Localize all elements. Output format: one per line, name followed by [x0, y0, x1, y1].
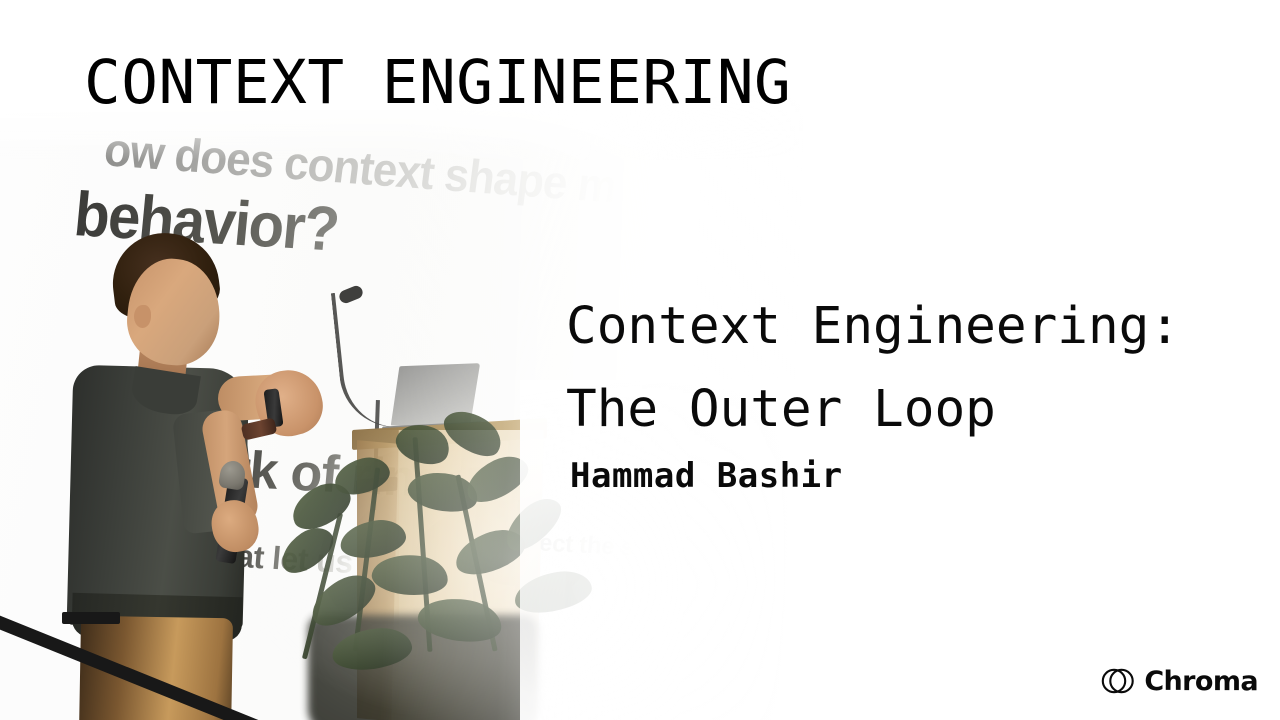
chroma-mark-icon	[1101, 666, 1135, 696]
video-title-card: ow does context shape m behavior? ark of…	[0, 0, 1280, 720]
chroma-logo: Chroma	[1101, 666, 1258, 696]
headline-line-1: Context Engineering:	[566, 286, 1266, 369]
speaker-ear	[134, 305, 151, 328]
stage-railing-cap	[62, 612, 120, 624]
plant-leaf	[331, 453, 394, 500]
plant-leaf	[370, 551, 450, 599]
kicker-title: CONTEXT ENGINEERING	[84, 52, 791, 113]
chroma-wordmark: Chroma	[1144, 668, 1258, 695]
plant-leaf	[338, 517, 408, 562]
plant-leaf	[511, 567, 594, 618]
speaker-name: Hammad Bashir	[570, 456, 843, 496]
headline-line-2: The Outer Loop	[566, 369, 1266, 452]
title-block: Context Engineering: The Outer Loop	[566, 286, 1266, 451]
plant-pot	[308, 615, 538, 720]
